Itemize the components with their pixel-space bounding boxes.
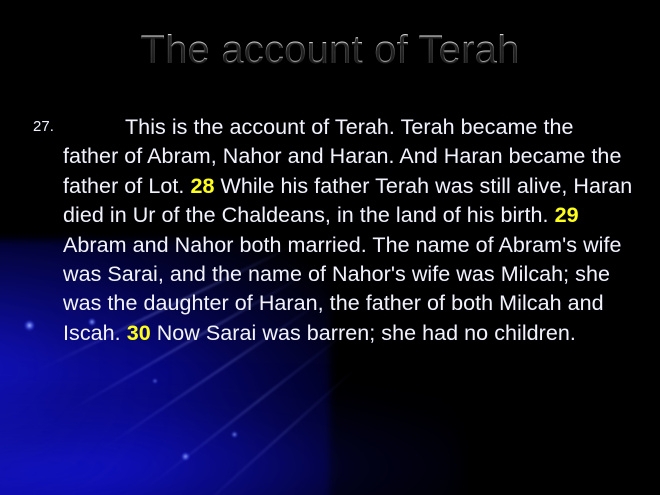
verse-number: 29: [555, 203, 579, 227]
body-paragraph: 27.This is the account of Terah. Terah b…: [33, 113, 633, 348]
list-marker: 27.: [33, 117, 54, 136]
body-text-runs: This is the account of Terah. Terah beca…: [63, 115, 632, 345]
blue-glow-bottom-decoration: [0, 380, 460, 495]
verse-number: 28: [190, 174, 214, 198]
slide-body: 27.This is the account of Terah. Terah b…: [33, 113, 633, 348]
star-dot-decoration: [181, 452, 190, 461]
star-dot-decoration: [231, 431, 238, 438]
slide-title: The account of Terah: [0, 28, 660, 73]
verse-number: 30: [127, 321, 151, 345]
star-dot-decoration: [152, 378, 158, 384]
slide-canvas: The account of Terah 27.This is the acco…: [0, 0, 660, 495]
body-text-run: Now Sarai was barren; she had no childre…: [151, 321, 576, 345]
